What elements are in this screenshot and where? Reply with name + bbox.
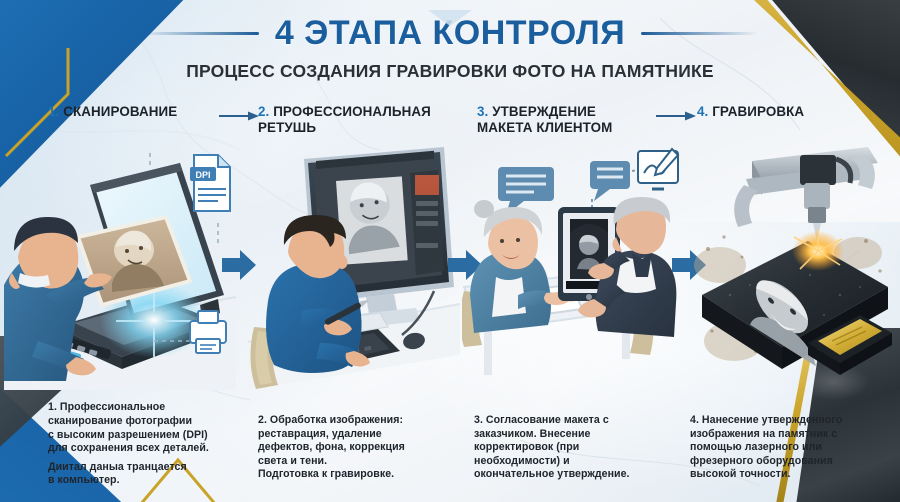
- poster-header: 4 ЭТАПА КОНТРОЛЯ ПРОЦЕСС СОЗДАНИЯ ГРАВИР…: [0, 16, 900, 82]
- infographic-poster: 4 ЭТАПА КОНТРОЛЯ ПРОЦЕСС СОЗДАНИЯ ГРАВИР…: [0, 0, 900, 502]
- step-headers: 1. СКАНИРОВАНИЕ 2. ПРОФЕССИОНАЛЬНАЯ РЕТУ…: [0, 104, 900, 140]
- caption-3-line-5: окончательное утверждение.: [474, 468, 674, 482]
- caption-1-line-3: с высоким разрешением (DPI): [48, 429, 253, 443]
- caption-4-line-5: высокой точности.: [690, 468, 890, 482]
- caption-3-line-4: необходимости) и: [474, 455, 674, 469]
- signature-approval-icon: [638, 149, 678, 189]
- caption-1-line-2: сканирование фотографии: [48, 415, 253, 429]
- caption-1-line-1: 1. Профессиональное: [48, 401, 253, 415]
- step-number-2: 2.: [258, 104, 269, 119]
- caption-2-line-3: дефектов, фона, коррекция: [258, 441, 463, 455]
- scene-retouching: [248, 145, 460, 390]
- caption-1-extra-line-1: Диитал даныа транцается: [48, 461, 253, 475]
- caption-4-line-1: 4. Нанесение утвержденного: [690, 414, 890, 428]
- caption-step-1: 1. Профессиональное сканирование фотогра…: [48, 401, 253, 488]
- caption-3-line-3: корректировок (при: [474, 441, 674, 455]
- caption-2-line-2: реставрация, удаление: [258, 428, 463, 442]
- caption-3-line-2: заказчиком. Внесение: [474, 428, 674, 442]
- header-tick-icon: [428, 10, 472, 26]
- speech-bubble-right-icon: [590, 161, 630, 201]
- step-title-2-line2: РЕТУШЬ: [258, 120, 431, 136]
- caption-step-3: 3. Согласование макета с заказчиком. Вне…: [474, 414, 674, 482]
- svg-text:DPI: DPI: [195, 170, 210, 180]
- step-title-4: ГРАВИРОВКА: [712, 104, 804, 119]
- cnc-machine: [734, 147, 878, 241]
- step-number-4: 4.: [697, 104, 708, 119]
- step-number-3: 3.: [477, 104, 488, 119]
- caption-2-line-1: 2. Обработка изображения:: [258, 414, 463, 428]
- caption-1-extra-line-2: в компьютер.: [48, 474, 253, 488]
- title-rule-left: [141, 32, 259, 35]
- caption-4-line-4: фрезерного оборудования: [690, 455, 890, 469]
- step-header-1: 1. СКАНИРОВАНИЕ: [48, 104, 177, 120]
- caption-step-2: 2. Обработка изображения: реставрация, у…: [258, 414, 463, 482]
- scene-scanning: DPI: [4, 145, 236, 390]
- caption-3-line-1: 3. Согласование макета с: [474, 414, 674, 428]
- header-arrow-3-icon: [655, 110, 697, 122]
- caption-4-line-3: помощью лазерного или: [690, 441, 890, 455]
- caption-4-line-2: изображения на памятник с: [690, 428, 890, 442]
- header-arrow-1-icon: [218, 110, 260, 122]
- title-rule-right: [641, 32, 759, 35]
- step-header-3: 3. УТВЕРЖДЕНИЕ МАКЕТА КЛИЕНТОМ: [477, 104, 612, 136]
- caption-step-4: 4. Нанесение утвержденного изображения н…: [690, 414, 890, 482]
- scene-laser-engraving: [690, 145, 900, 390]
- scene-client-approval: [462, 145, 684, 390]
- caption-2-line-5: Подготовка к гравировке.: [258, 468, 463, 482]
- page-subtitle: ПРОЦЕСС СОЗДАНИЯ ГРАВИРОВКИ ФОТО НА ПАМЯ…: [0, 61, 900, 82]
- step-title-3: УТВЕРЖДЕНИЕ: [492, 104, 596, 119]
- caption-1-line-4: для сохранения всех деталей.: [48, 442, 253, 456]
- step-header-4: 4. ГРАВИРОВКА: [697, 104, 804, 120]
- step-title-1: СКАНИРОВАНИЕ: [63, 104, 177, 119]
- step-header-2: 2. ПРОФЕССИОНАЛЬНАЯ РЕТУШЬ: [258, 104, 431, 136]
- step-number-1: 1.: [48, 104, 59, 119]
- caption-2-line-4: света и тени.: [258, 455, 463, 469]
- step-title-3-line2: МАКЕТА КЛИЕНТОМ: [477, 120, 612, 136]
- step-title-2: ПРОФЕССИОНАЛЬНАЯ: [273, 104, 431, 119]
- dpi-file-icon: DPI: [190, 155, 230, 211]
